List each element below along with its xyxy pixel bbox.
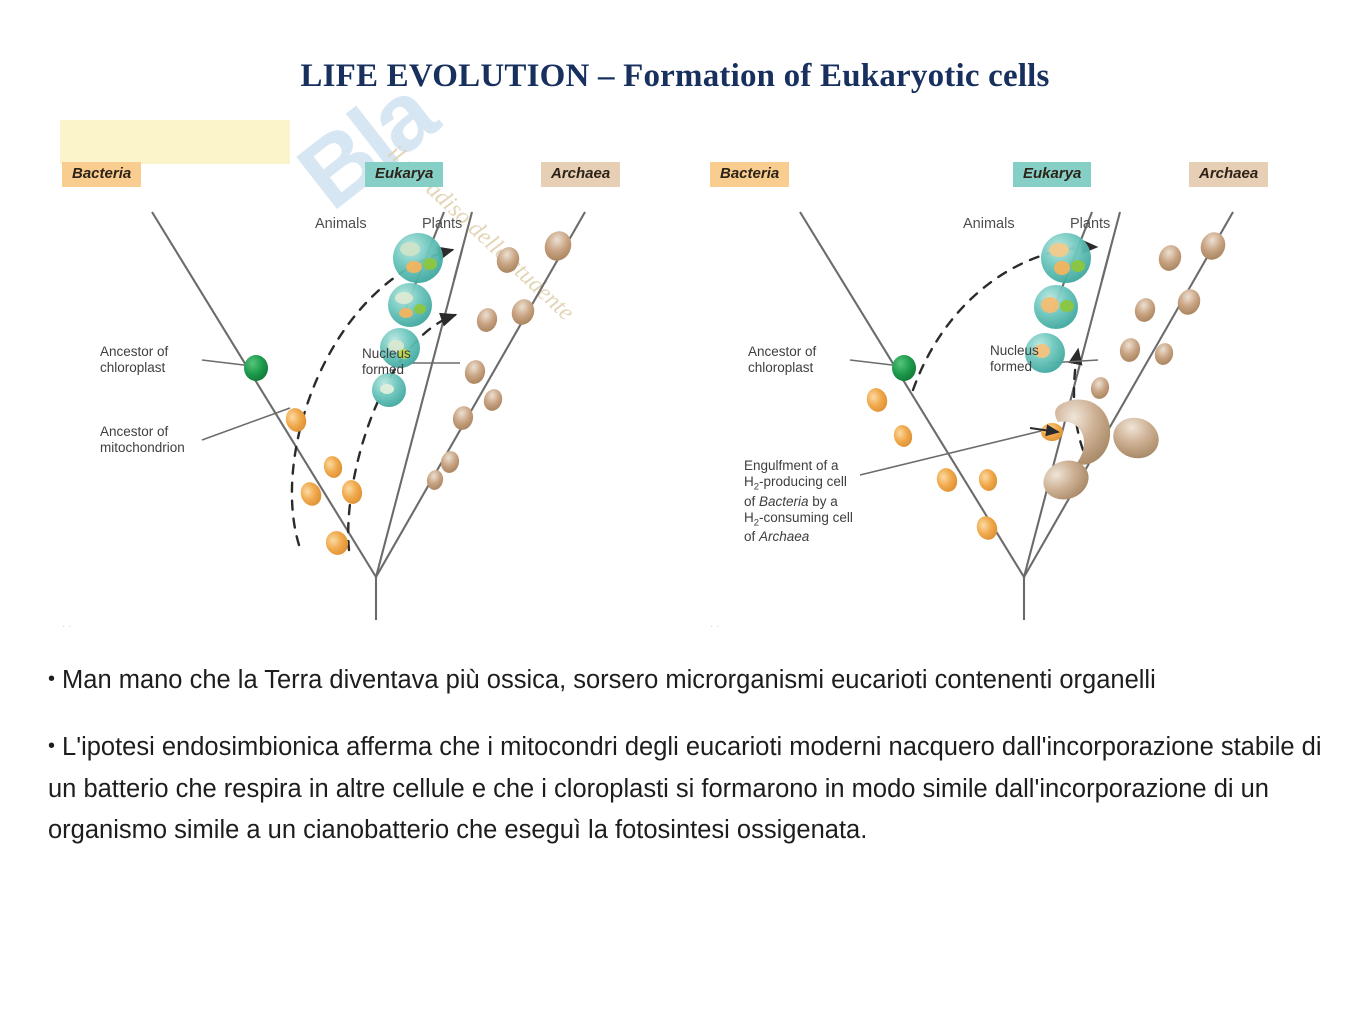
annot-line-2: chloroplast [100,360,165,375]
baseline-marks-left: .. [62,616,75,630]
annot-ancestor-chloroplast-right: Ancestor of chloroplast [748,344,816,377]
annot-line-1: Nucleus [362,346,411,361]
engulfment-line-3: of Bacteria by a [744,494,838,509]
annot-line-2: formed [990,359,1032,374]
label-animals-left: Animals [315,216,367,233]
bullet-dot-icon: • [48,668,62,690]
engulfment-line-1: Engulfment of a [744,458,839,473]
annot-line-2: chloroplast [748,360,813,375]
bullet-item: •Man mano che la Terra diventava più oss… [48,660,1338,701]
annot-ancestor-chloroplast-left: Ancestor of chloroplast [100,344,168,377]
annot-nucleus-formed-right: Nucleus formed [990,343,1039,376]
annot-engulfment-note: Engulfment of a H2-producing cell of Bac… [744,458,853,546]
engulfment-line-4: H2-consuming cell [744,510,853,525]
annot-nucleus-formed-left: Nucleus formed [362,346,411,379]
chip-eukarya-right: Eukarya [1013,162,1091,187]
bullet-item: •L'ipotesi endosimbionica afferma che i … [48,727,1338,851]
annot-line-1: Ancestor of [100,424,168,439]
chip-archaea-left: Archaea [541,162,620,187]
chip-bacteria-left: Bacteria [62,162,141,187]
bacteria-cell-group [864,385,1001,542]
annot-line-1: Ancestor of [100,344,168,359]
bullet-text: Man mano che la Terra diventava più ossi… [62,666,1156,694]
page-title: LIFE EVOLUTION – Formation of Eukaryotic… [0,58,1350,95]
body-text: •Man mano che la Terra diventava più oss… [48,660,1338,877]
annot-line-2: formed [362,362,404,377]
baseline-marks-right: .. [710,616,723,630]
annot-line-2: mitochondrion [100,440,185,455]
engulfment-group [1030,399,1164,505]
bullet-dot-icon: • [48,735,62,757]
chloroplast-ancestor-cell [244,355,268,381]
engulfment-line-5: of Archaea [744,529,809,544]
bacteria-cell-group [283,405,364,558]
eukaryote-cell-group [372,233,443,407]
chip-eukarya-left: Eukarya [365,162,443,187]
chip-bacteria-right: Bacteria [710,162,789,187]
label-animals-right: Animals [963,216,1015,233]
left-diagram: Bacteria Eukarya Archaea Animals Plants … [52,150,672,640]
annot-line-1: Ancestor of [748,344,816,359]
chloroplast-ancestor-cell [892,355,916,381]
label-plants-left: Plants [422,216,462,233]
annot-line-1: Nucleus [990,343,1039,358]
annot-ancestor-mitochondrion-left: Ancestor of mitochondrion [100,424,185,457]
chip-archaea-right: Archaea [1189,162,1268,187]
label-plants-right: Plants [1070,216,1110,233]
archaea-cell-group [1089,229,1229,401]
right-diagram: Bacteria Eukarya Archaea Animals Plants … [700,150,1320,640]
bullet-text: L'ipotesi endosimbionica afferma che i m… [48,733,1322,844]
engulfment-line-2: H2-producing cell [744,474,847,489]
